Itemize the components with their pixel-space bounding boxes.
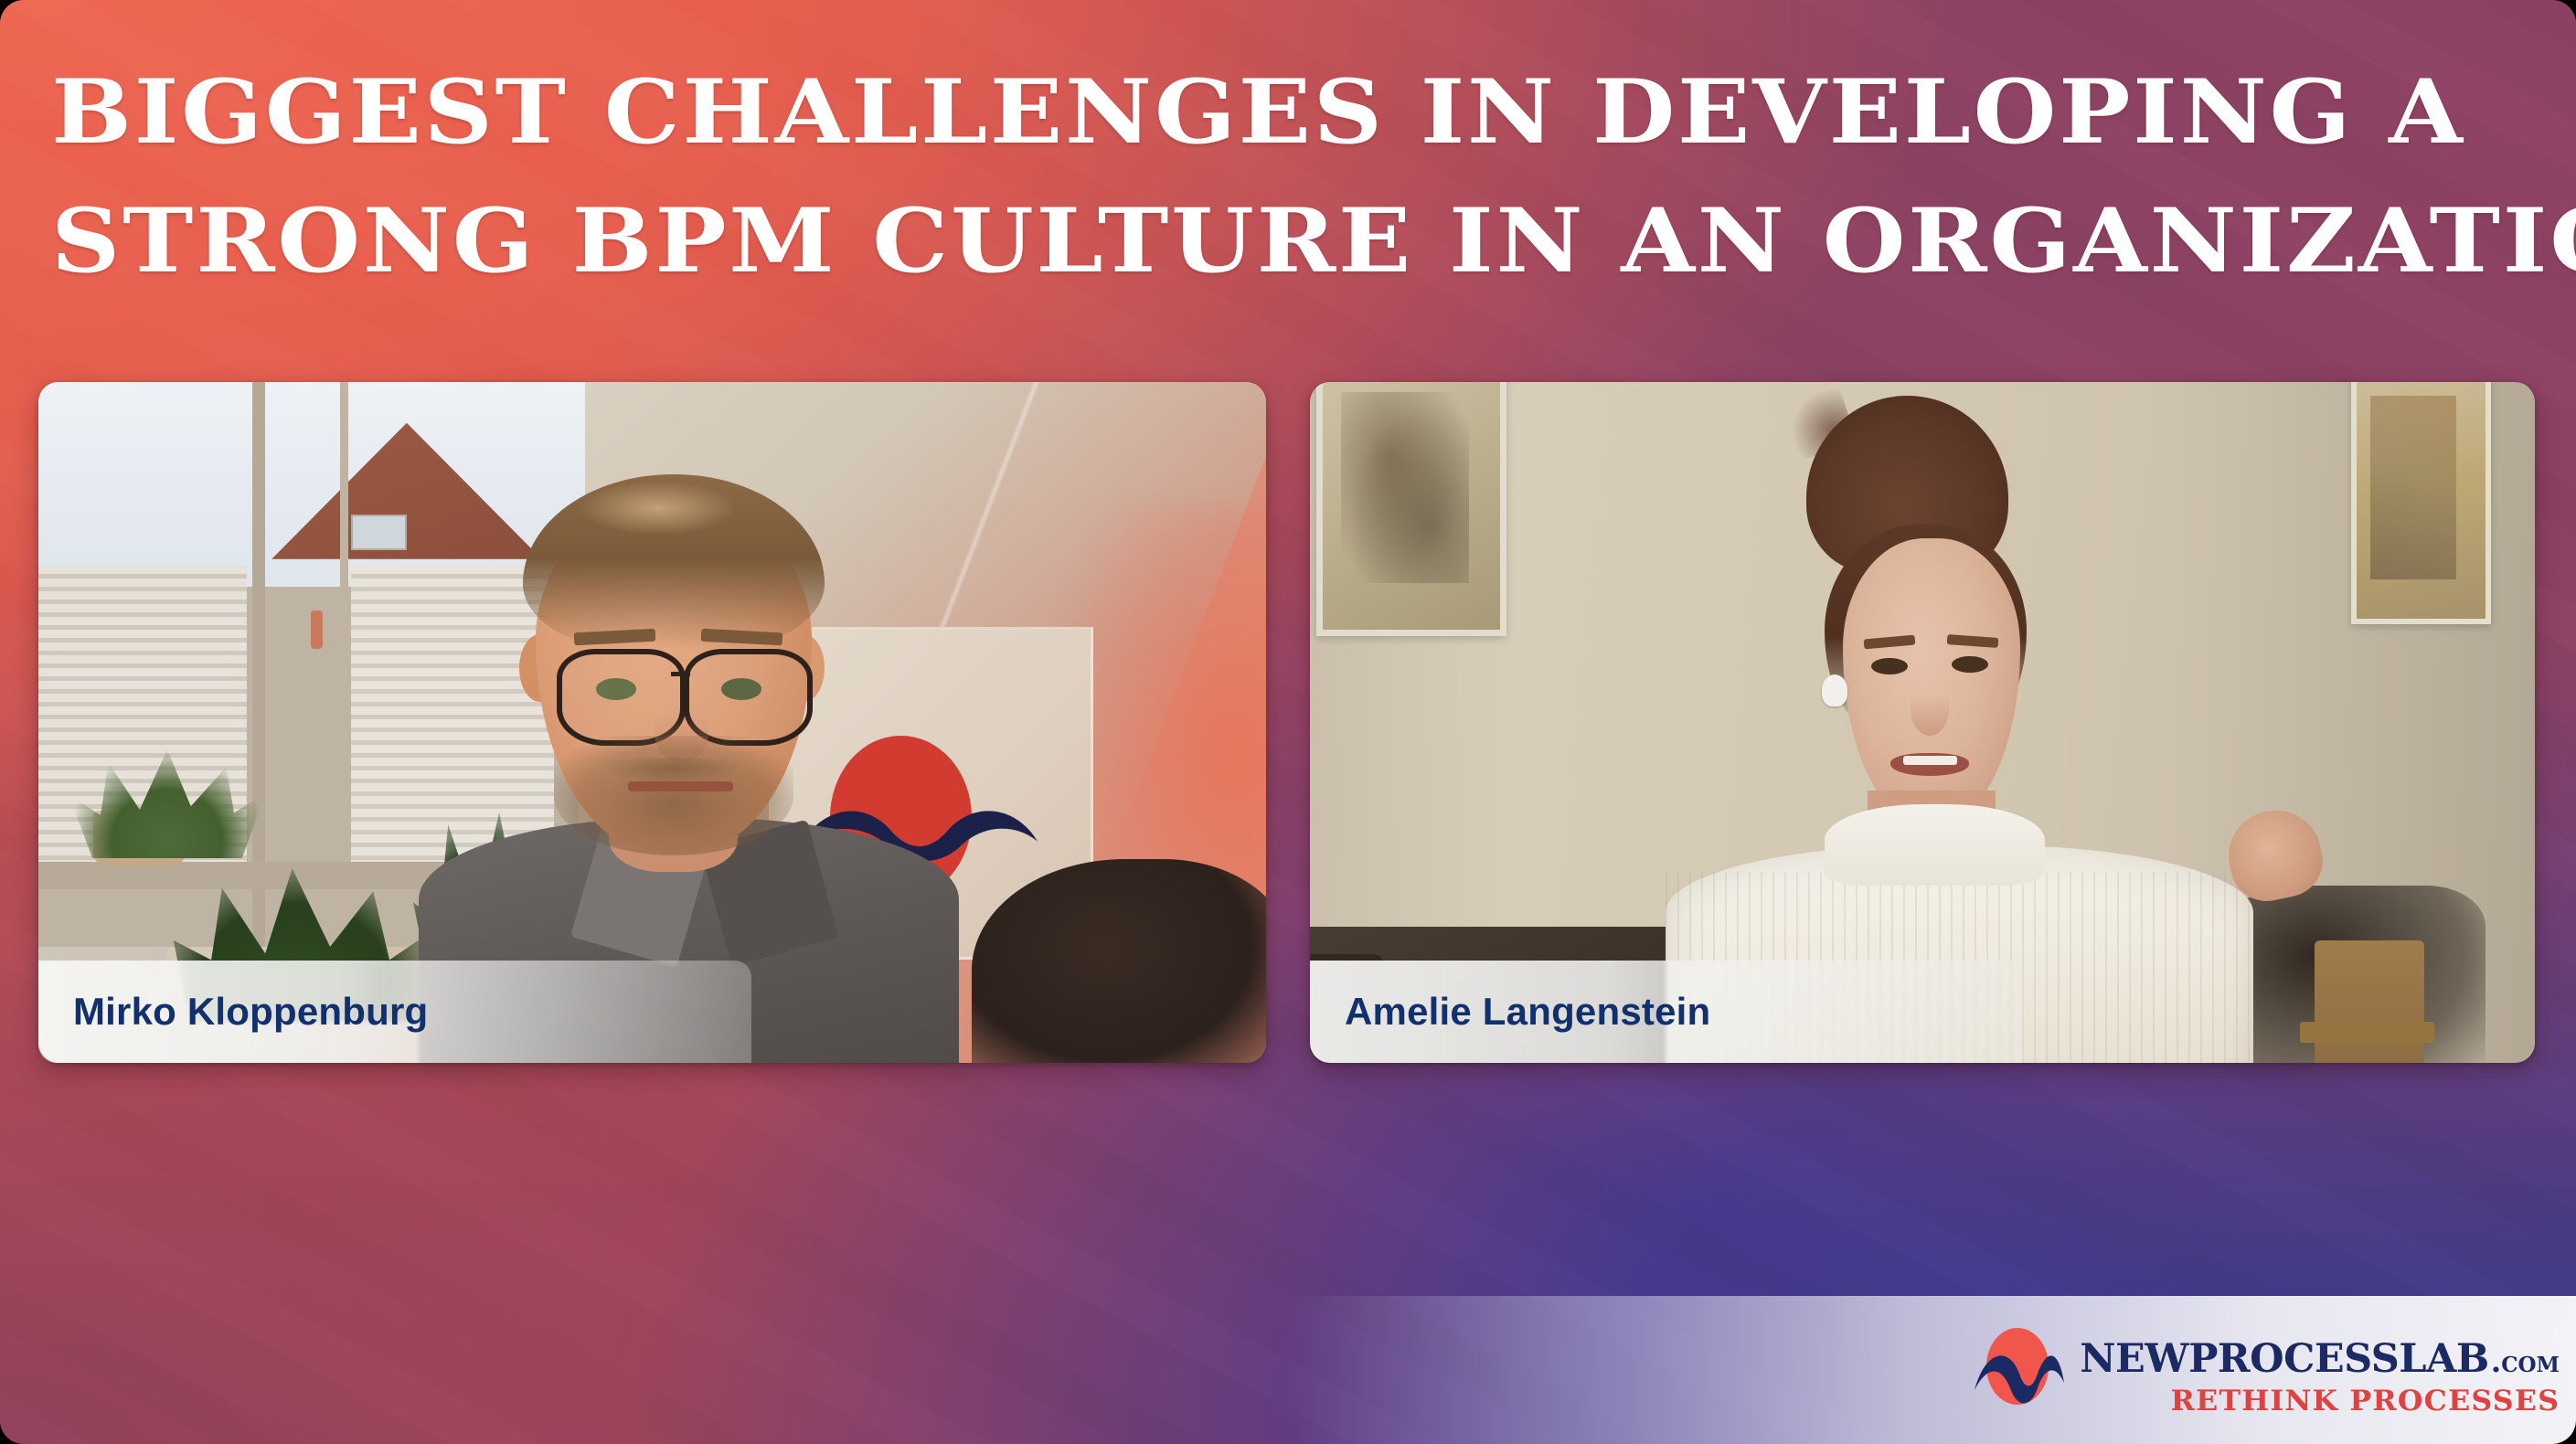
wooden-chair-rail xyxy=(2300,1022,2434,1042)
slide-title: Biggest challenges in developing a stron… xyxy=(51,48,2576,305)
video-tile-mirko[interactable]: Mirko Kloppenburg xyxy=(38,382,1266,1063)
roof-window xyxy=(351,515,406,549)
framed-picture-left-art xyxy=(1341,392,1470,583)
person-moustache xyxy=(609,758,738,780)
wooden-chair-leg xyxy=(2315,940,2425,1063)
logo-word-lab: Lab xyxy=(2399,1324,2488,1381)
newprocesslab-logo[interactable]: New Process Lab .com Rethink Processes xyxy=(1972,1319,2560,1421)
participant-name-label: Amelie Langenstein xyxy=(1345,990,1710,1034)
logo-domain-suffix: .com xyxy=(2491,1346,2560,1376)
wireless-earbud xyxy=(1822,674,1847,706)
framed-picture-right-art xyxy=(2370,396,2456,579)
logo-bar: New Process Lab .com Rethink Processes xyxy=(1291,1296,2576,1444)
person-eye-left xyxy=(1871,658,1908,674)
logo-wordmark: New Process Lab .com Rethink Processes xyxy=(2080,1324,2560,1416)
window-blind-right xyxy=(351,566,554,865)
logo-word-process: Process xyxy=(2188,1324,2399,1381)
logo-tagline: Rethink Processes xyxy=(2170,1387,2560,1416)
person-mouth xyxy=(628,781,733,791)
turtleneck-collar xyxy=(1825,804,2045,886)
window-handle xyxy=(311,611,323,649)
logo-wordmark-row: New Process Lab .com xyxy=(2080,1324,2560,1381)
video-tile-amelie[interactable]: Amelie Langenstein xyxy=(1310,382,2535,1063)
logo-mark xyxy=(1972,1319,2067,1421)
name-badge-mirko: Mirko Kloppenburg xyxy=(38,961,751,1063)
hair-highlight xyxy=(579,481,739,536)
logo-wave-icon xyxy=(1972,1319,2067,1421)
participant-name-label: Mirko Kloppenburg xyxy=(73,990,428,1034)
person-teeth xyxy=(1903,756,1957,765)
eyeglasses-bridge xyxy=(671,672,690,676)
video-slide: Biggest challenges in developing a stron… xyxy=(0,0,2576,1444)
person-beard xyxy=(554,736,793,855)
logo-word-new: New xyxy=(2080,1324,2188,1381)
name-badge-amelie: Amelie Langenstein xyxy=(1310,961,2023,1063)
